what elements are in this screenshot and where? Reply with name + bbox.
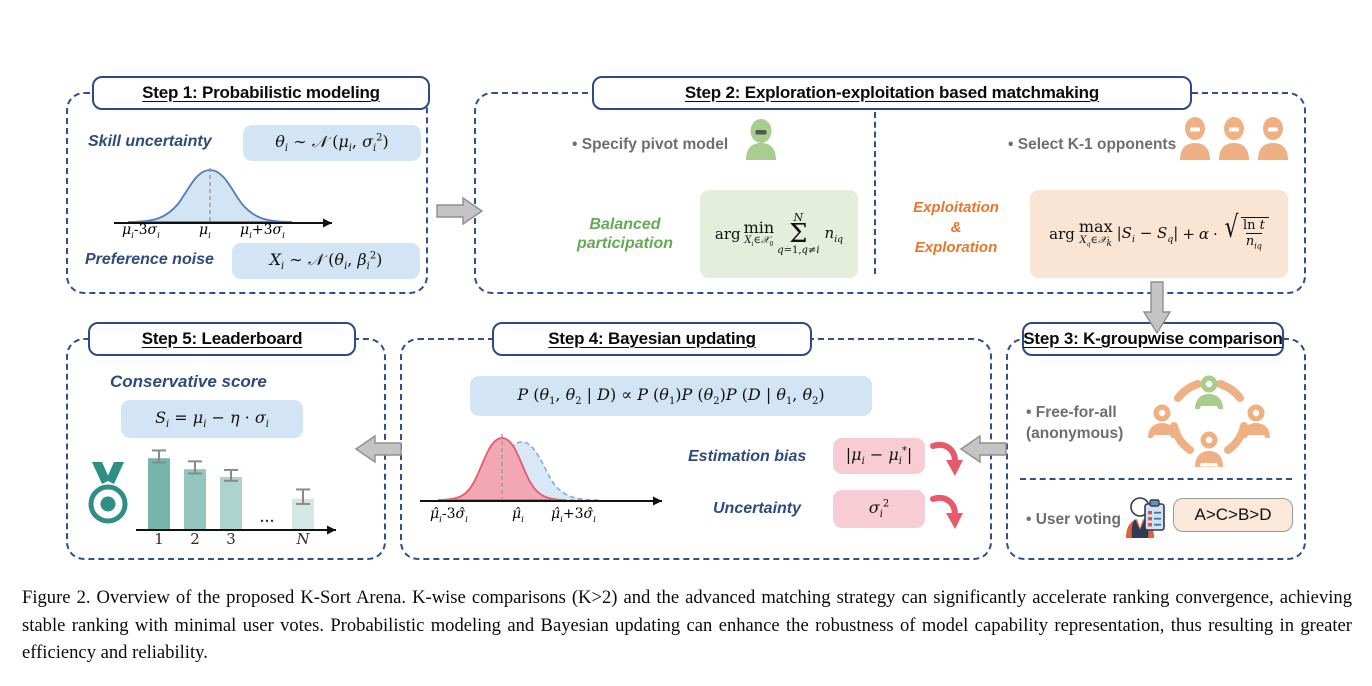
- step4-axis-left: μ̂i-3σ̂i: [430, 506, 468, 525]
- step5-title: Step 5: Leaderboard: [88, 322, 356, 356]
- step4-title-text: Step 4: Bayesian updating: [548, 329, 756, 349]
- exploitation-exploration-label: Exploitation & Exploration: [892, 198, 1020, 258]
- skill-formula-text: θi ∼ 𝒩 (μi, σi2): [275, 132, 388, 154]
- step1-axis-right: μi+3σi: [240, 222, 285, 241]
- medal-icon: [86, 460, 130, 526]
- step1-title: Step 1: Probabilistic modeling: [92, 76, 430, 110]
- bias-formula-text: |μi − μi*|: [846, 445, 912, 467]
- exploit-line1: Exploitation: [892, 198, 1020, 218]
- skill-uncertainty-label: Skill uncertainty: [88, 133, 212, 151]
- uncertainty-formula: σi2: [833, 490, 925, 528]
- exploitation-formula: arg max Xq∈𝒳k |Si − Sq| + α · √ ln t niq: [1030, 190, 1288, 278]
- preference-noise-label: Preference noise: [85, 251, 214, 269]
- balanced-line2: participation: [560, 234, 690, 253]
- chart-tick-label: 3: [219, 530, 243, 548]
- select-opponents-bullet: • Select K-1 opponents: [1008, 134, 1176, 155]
- step4-axis-center: μ̂i: [512, 506, 524, 525]
- step3-divider: [1020, 478, 1292, 480]
- estimation-bias-label: Estimation bias: [688, 448, 806, 466]
- arrow-step4-to-step5: [354, 434, 402, 464]
- step1-axis-center: μi: [199, 222, 211, 241]
- balanced-participation-formula: arg min Xi∈𝒳0 N Σ q=1,q≠i niq: [700, 190, 858, 278]
- chart-tick-label: 2: [183, 530, 207, 548]
- arrow-step2-to-step3: [1142, 282, 1172, 334]
- vote-result-text: A>C>B>D: [1194, 505, 1271, 525]
- user-voting-icon: [1123, 494, 1167, 538]
- estimation-bias-formula: |μi − μi*|: [833, 438, 925, 474]
- step2-divider: [874, 112, 876, 274]
- uncertainty-formula-text: σi2: [869, 498, 889, 520]
- step4-distribution-chart: [418, 424, 678, 516]
- step1-axis-left: μi-3σi: [122, 222, 160, 241]
- specify-pivot-bullet: • Specify pivot model: [572, 134, 728, 155]
- free-for-all-bullet: • Free-for-all (anonymous): [1026, 402, 1123, 444]
- exploit-line2: &: [892, 218, 1020, 238]
- svg-text:...: ...: [260, 505, 275, 527]
- orange-avatars-icon: [1178, 116, 1290, 160]
- noise-formula-text: Xi ∼ 𝒩 (θi, βi2): [270, 250, 383, 272]
- figure-caption: Figure 2. Overview of the proposed K-Sor…: [22, 584, 1352, 667]
- balanced-line1: Balanced: [560, 215, 690, 234]
- vote-result-box: A>C>B>D: [1173, 498, 1293, 532]
- group-circle-icon: [1148, 368, 1270, 474]
- step2-title: Step 2: Exploration-exploitation based m…: [592, 76, 1192, 110]
- step4-title: Step 4: Bayesian updating: [492, 322, 812, 356]
- exploitation-formula-text: arg max Xq∈𝒳k |Si − Sq| + α · √ ln t niq: [1049, 217, 1269, 252]
- arrow-step3-to-step4: [959, 434, 1007, 464]
- step1-title-text: Step 1: Probabilistic modeling: [142, 83, 380, 103]
- exploit-line3: Exploration: [892, 238, 1020, 258]
- chart-tick-label: N: [291, 530, 315, 548]
- free-for-all-line1: • Free-for-all: [1026, 402, 1123, 423]
- balanced-formula-text: arg min Xi∈𝒳0 N Σ q=1,q≠i niq: [715, 212, 843, 256]
- conservative-score-label: Conservative score: [110, 372, 267, 392]
- arrow-step1-to-step2: [437, 196, 483, 226]
- uncertainty-label: Uncertainty: [713, 500, 801, 518]
- bayes-formula-text: P (θ1, θ2 | D) ∝ P (θ1)P (θ2)P (D | θ1, …: [517, 385, 824, 407]
- free-for-all-line2: (anonymous): [1026, 423, 1123, 444]
- balanced-participation-label: Balanced participation: [560, 215, 690, 253]
- score-formula-text: Si = μi − η · σi: [155, 408, 269, 430]
- green-avatar-icon: [744, 118, 778, 160]
- bayes-formula-box: P (θ1, θ2 | D) ∝ P (θ1)P (θ2)P (D | θ1, …: [470, 376, 872, 416]
- chart-tick-label: 1: [147, 530, 171, 548]
- step2-title-text: Step 2: Exploration-exploitation based m…: [685, 83, 1099, 103]
- user-voting-bullet: • User voting: [1026, 509, 1121, 530]
- preference-noise-formula: Xi ∼ 𝒩 (θi, βi2): [232, 243, 420, 279]
- skill-uncertainty-formula: θi ∼ 𝒩 (μi, σi2): [243, 125, 421, 161]
- step5-title-text: Step 5: Leaderboard: [142, 329, 303, 349]
- leaderboard-chart-labels: 123N: [136, 530, 354, 554]
- step4-axis-right: μ̂i+3σ̂i: [551, 506, 596, 525]
- uncertainty-down-arrow-icon: [930, 493, 964, 533]
- conservative-score-formula: Si = μi − η · σi: [121, 400, 303, 438]
